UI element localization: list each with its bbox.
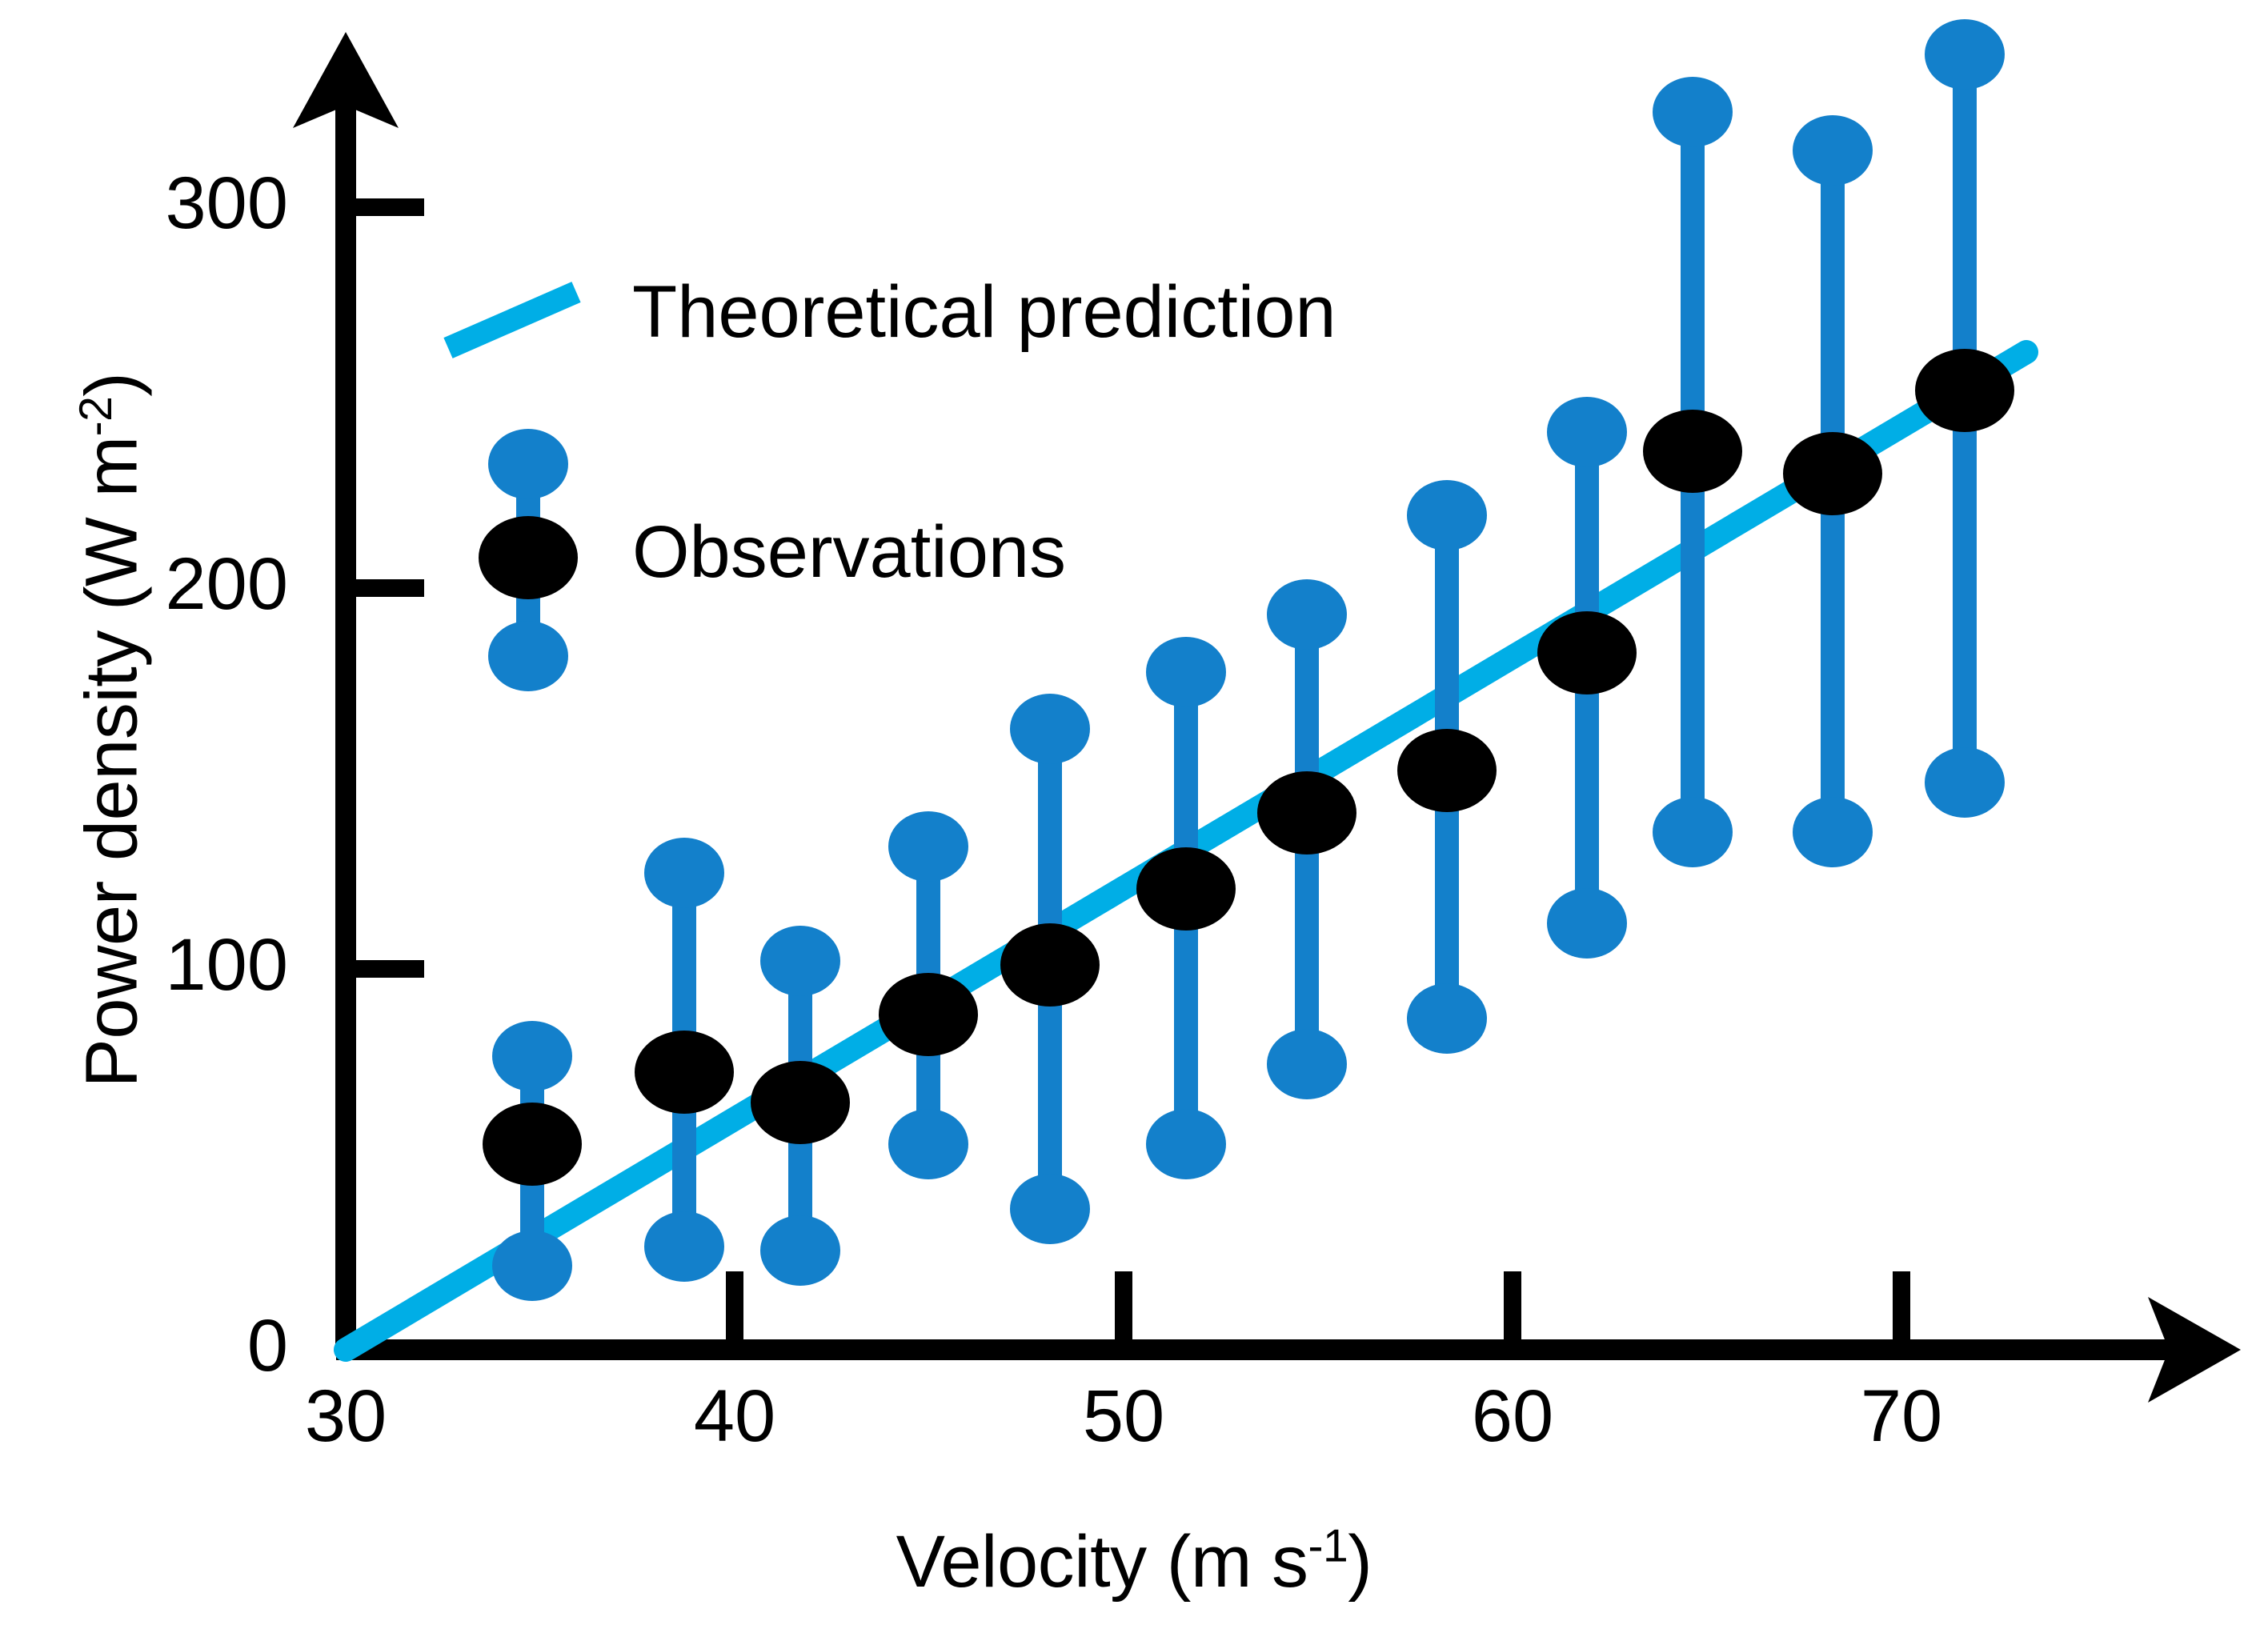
error-cap-low bbox=[492, 1231, 572, 1301]
error-cap-low bbox=[1653, 797, 1733, 867]
error-cap-low bbox=[1146, 1109, 1226, 1179]
observation-marker bbox=[1000, 923, 1100, 1007]
x-tick-label-70: 70 bbox=[1821, 1375, 1981, 1459]
legend-label-observations: Observations bbox=[632, 510, 1066, 594]
y-axis-title: Power density (W m-2) bbox=[70, 170, 154, 1291]
observation-point bbox=[1537, 397, 1637, 959]
x-axis-title-suffix: ) bbox=[1348, 1521, 1372, 1603]
error-cap-high bbox=[1146, 637, 1226, 707]
observation-marker bbox=[1537, 611, 1637, 694]
observation-point bbox=[1915, 19, 2014, 818]
x-axis-title-exponent: -1 bbox=[1308, 1520, 1348, 1571]
observation-point bbox=[879, 811, 978, 1179]
observation-point bbox=[1136, 637, 1236, 1179]
series-observations bbox=[483, 19, 2014, 1301]
legend-errorbar-swatch bbox=[479, 429, 578, 691]
chart-figure: 0 100 200 300 30 40 50 60 70 Theoretical… bbox=[0, 0, 2268, 1633]
error-cap-low bbox=[1407, 983, 1487, 1054]
legend-group bbox=[448, 292, 578, 691]
error-cap-high bbox=[492, 1021, 572, 1091]
error-cap-low bbox=[1267, 1029, 1347, 1099]
error-cap-low bbox=[644, 1211, 724, 1282]
observation-marker bbox=[635, 1031, 734, 1114]
y-axis-title-prefix: Power density (W m bbox=[71, 436, 153, 1087]
observation-marker bbox=[1257, 771, 1356, 855]
x-tick-label-40: 40 bbox=[655, 1375, 815, 1459]
legend-label-theoretical-prediction: Theoretical prediction bbox=[632, 270, 1336, 354]
error-cap-high bbox=[888, 811, 968, 882]
error-cap-low bbox=[1547, 888, 1627, 959]
error-cap-high bbox=[1010, 694, 1090, 764]
error-cap-high bbox=[760, 926, 840, 996]
error-cap-low bbox=[1925, 747, 2005, 818]
observation-point bbox=[1397, 480, 1497, 1054]
error-cap-high bbox=[1267, 579, 1347, 650]
observation-marker bbox=[1915, 349, 2014, 432]
observation-point bbox=[1643, 77, 1742, 867]
observation-marker bbox=[483, 1103, 582, 1186]
observation-point bbox=[1783, 115, 1882, 867]
legend-line-swatch bbox=[448, 292, 576, 348]
x-tick-label-30: 30 bbox=[266, 1375, 426, 1459]
observation-marker bbox=[1136, 847, 1236, 931]
observation-marker bbox=[879, 973, 978, 1056]
x-axis-title-prefix: Velocity (m s bbox=[896, 1521, 1308, 1603]
error-cap-high bbox=[1547, 397, 1627, 467]
x-axis-title: Velocity (m s-1) bbox=[0, 1520, 2268, 1604]
observation-point bbox=[1000, 694, 1100, 1244]
error-cap-low bbox=[888, 1109, 968, 1179]
observation-marker bbox=[1643, 410, 1742, 493]
y-axis-title-suffix: ) bbox=[71, 373, 153, 397]
error-cap-high bbox=[1653, 77, 1733, 147]
observation-point bbox=[635, 838, 734, 1282]
error-cap-high bbox=[1793, 115, 1873, 186]
observation-point bbox=[483, 1021, 582, 1301]
error-cap-low bbox=[1793, 797, 1873, 867]
error-cap-high bbox=[1407, 480, 1487, 550]
error-cap-high bbox=[1925, 19, 2005, 90]
x-tick-label-50: 50 bbox=[1044, 1375, 1204, 1459]
observation-point bbox=[751, 926, 850, 1286]
y-tick-label-0: 0 bbox=[48, 1304, 288, 1388]
observation-marker bbox=[1397, 729, 1497, 812]
observation-point bbox=[1257, 579, 1356, 1099]
observation-marker bbox=[751, 1061, 850, 1144]
y-axis-title-exponent: -2 bbox=[70, 397, 122, 437]
observation-marker bbox=[1783, 432, 1882, 515]
error-cap-low bbox=[1010, 1174, 1090, 1244]
error-cap-high bbox=[644, 838, 724, 908]
error-cap-low bbox=[760, 1215, 840, 1286]
x-tick-label-60: 60 bbox=[1433, 1375, 1593, 1459]
